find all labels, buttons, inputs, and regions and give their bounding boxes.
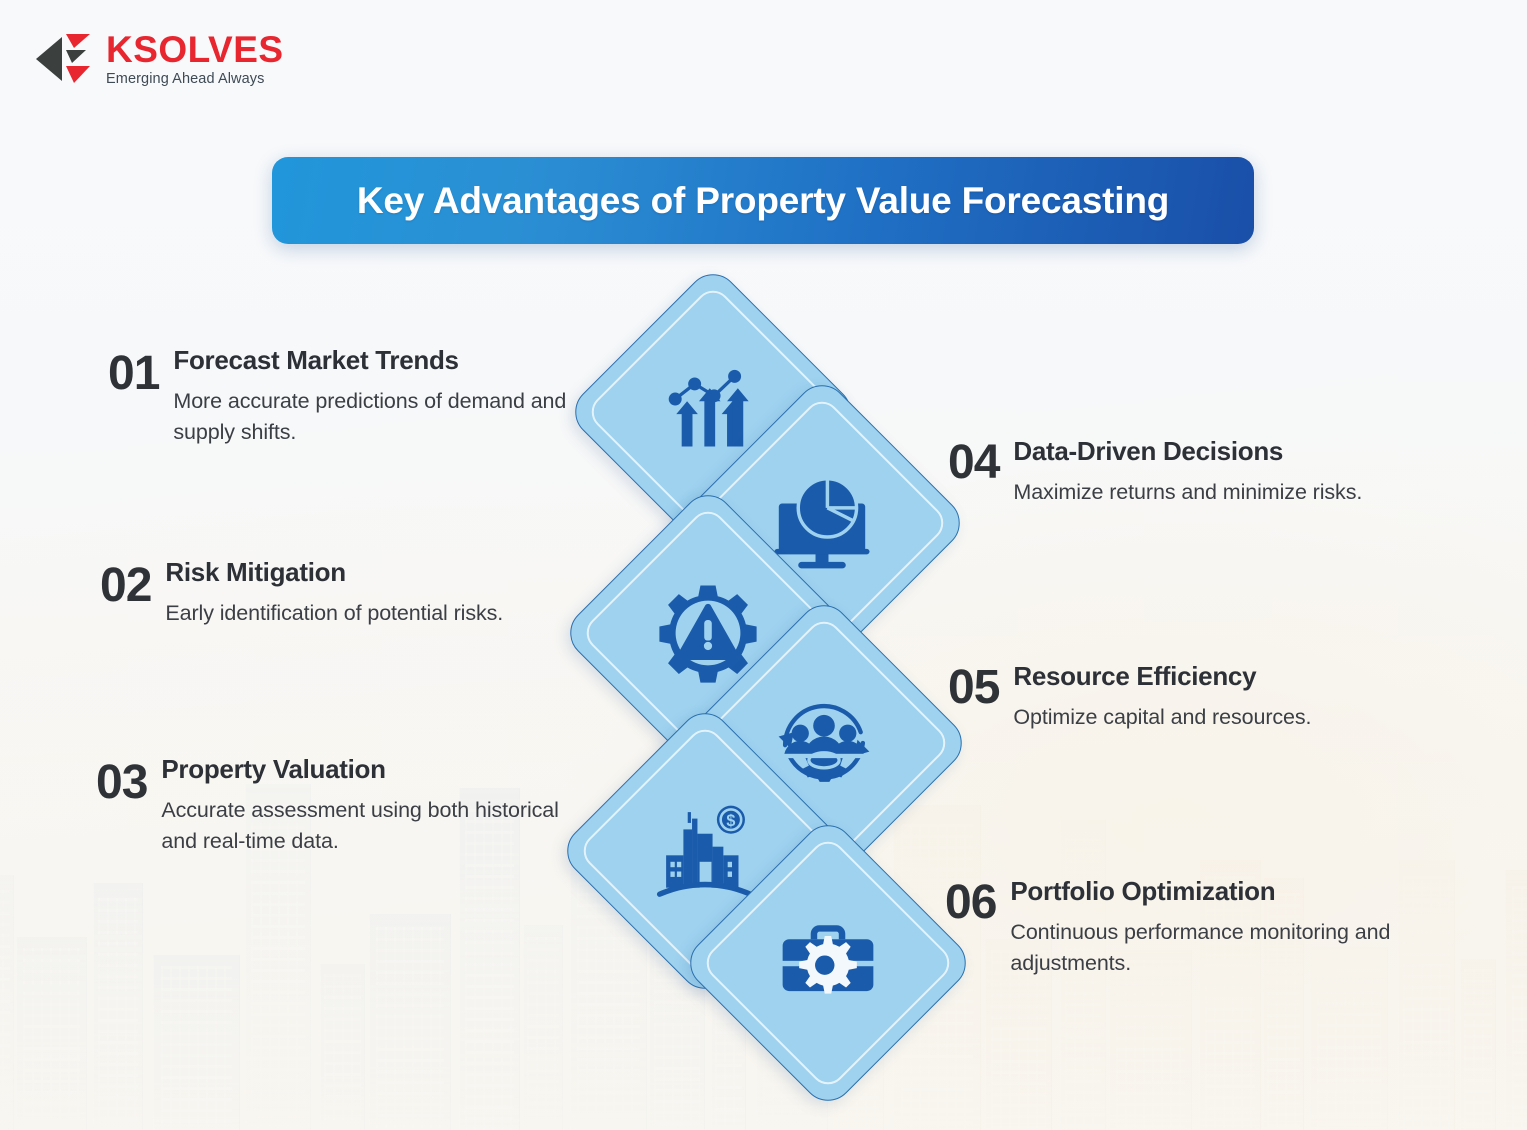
- item-number: 04: [948, 437, 999, 508]
- item-description: Maximize returns and minimize risks.: [1013, 477, 1362, 508]
- item-description: Continuous performance monitoring and ad…: [1010, 917, 1465, 978]
- ksolves-logo: KSOLVES Emerging Ahead Always: [34, 30, 284, 88]
- advantage-item-03: 03 Property Valuation Accurate assessmen…: [96, 755, 596, 856]
- advantage-item-06: 06 Portfolio Optimization Continuous per…: [945, 877, 1465, 978]
- item-number: 05: [948, 662, 999, 733]
- item-description: More accurate predictions of demand and …: [173, 386, 588, 447]
- ksolves-triangles-logo-icon: [34, 30, 96, 88]
- advantage-item-04: 04 Data-Driven Decisions Maximize return…: [948, 437, 1448, 508]
- item-description: Accurate assessment using both historica…: [161, 795, 596, 856]
- brand-name: KSOLVES: [106, 31, 284, 68]
- item-description: Early identification of potential risks.: [165, 598, 503, 629]
- page-title-banner: Key Advantages of Property Value Forecas…: [272, 157, 1254, 244]
- city-buildings-dollar-icon: $: [651, 797, 759, 905]
- item-number: 03: [96, 755, 147, 856]
- team-cycle-gear-icon: [770, 689, 878, 797]
- item-number: 01: [108, 346, 159, 447]
- item-heading: Risk Mitigation: [165, 557, 345, 587]
- item-heading: Data-Driven Decisions: [1013, 436, 1283, 466]
- advantage-item-02: 02 Risk Mitigation Early identification …: [100, 558, 580, 629]
- item-heading: Property Valuation: [161, 754, 385, 784]
- advantage-item-05: 05 Resource Efficiency Optimize capital …: [948, 662, 1448, 733]
- svg-text:$: $: [726, 812, 735, 830]
- brand-tagline: Emerging Ahead Always: [106, 72, 284, 87]
- item-description: Optimize capital and resources.: [1013, 702, 1311, 733]
- page-title: Key Advantages of Property Value Forecas…: [357, 180, 1169, 222]
- item-number: 02: [100, 558, 151, 629]
- briefcase-gear-icon: [774, 909, 882, 1017]
- item-heading: Forecast Market Trends: [173, 345, 458, 375]
- advantage-item-01: 01 Forecast Market Trends More accurate …: [108, 346, 588, 447]
- item-heading: Portfolio Optimization: [1010, 876, 1275, 906]
- item-heading: Resource Efficiency: [1013, 661, 1256, 691]
- infographic-page: KSOLVES Emerging Ahead Always Key Advant…: [0, 0, 1527, 1130]
